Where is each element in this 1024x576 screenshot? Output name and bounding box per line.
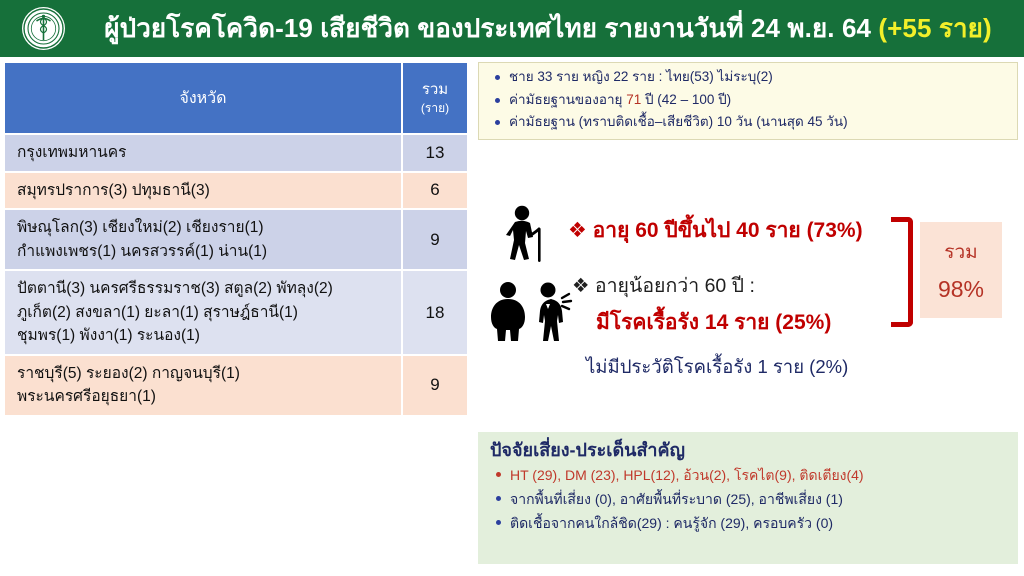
cell-province-names: สมุทรปราการ(3) ปทุมธานี(3) (5, 173, 401, 209)
obese-and-coughing-person-icon (486, 280, 582, 342)
column-header-province: จังหวัด (5, 63, 401, 133)
risk-factors-list: HT (29), DM (23), HPL(12), อ้วน(2), โรคไ… (490, 468, 1012, 530)
province-line: กำแพงเพชร(1) นครสวรรค์(1) น่าน(1) (17, 240, 401, 264)
cell-province-names: กรุงเทพมหานคร (5, 135, 401, 171)
demographics-panel: ชาย 33 ราย หญิง 22 ราย : ไทย(53) ไม่ระบุ… (478, 62, 1018, 140)
cell-total: 9 (403, 356, 467, 415)
demographics-item-highlight: 71 (626, 92, 641, 107)
no-chronic-disease-text: ไม่มีประวัติโรคเรื้อรัง 1 ราย (2%) (586, 353, 848, 382)
demographics-item: ค่ามัธยฐานของอายุ 71 ปี (42 – 100 ปี) (489, 93, 1011, 107)
cell-province-names: พิษณุโลก(3) เชียงใหม่(2) เชียงราย(1)กำแพ… (5, 210, 401, 269)
age-under-60-text: ❖ อายุน้อยกว่า 60 ปี : (572, 270, 755, 301)
table-row: สมุทรปราการ(3) ปทุมธานี(3)6 (5, 173, 467, 209)
logo-wrap (0, 0, 86, 57)
province-line: ปัตตานี(3) นครศรีธรรมราช(3) สตูล(2) พัทล… (17, 277, 401, 301)
grouping-bracket (891, 217, 913, 327)
combined-total-box: รวม 98% (920, 222, 1002, 318)
risk-factors-panel: ปัจจัยเสี่ยง-ประเด็นสำคัญ HT (29), DM (2… (478, 432, 1018, 564)
table-row: ปัตตานี(3) นครศรีธรรมราช(3) สตูล(2) พัทล… (5, 271, 467, 354)
combined-total-value: 98% (938, 276, 984, 303)
province-line: ภูเก็ต(2) สงขลา(1) ยะลา(1) สุราษฎ์ธานี(1… (17, 301, 401, 325)
infographic-page: ผู้ป่วยโรคโควิด-19 เสียชีวิต ของประเทศไท… (0, 0, 1024, 576)
table-row: ราชบุรี(5) ระยอง(2) กาญจนบุรี(1)พระนครศร… (5, 356, 467, 415)
demographics-item: ชาย 33 ราย หญิง 22 ราย : ไทย(53) ไม่ระบุ… (489, 70, 1011, 84)
combined-total-label: รวม (944, 237, 977, 267)
demographics-item-text: ชาย 33 ราย หญิง 22 ราย : ไทย(53) ไม่ระบุ… (509, 69, 773, 84)
age-breakdown-block: ❖ อายุ 60 ปีขึ้นไป 40 ราย (73%) ❖ อายุน้… (476, 186, 1024, 416)
cell-province-names: ปัตตานี(3) นครศรีธรรมราช(3) สตูล(2) พัทล… (5, 271, 401, 354)
demographics-item-text: ค่ามัธยฐานของอายุ (509, 92, 626, 107)
column-header-total-label: รวม (422, 81, 448, 98)
table-head: จังหวัด รวม (ราย) (5, 63, 467, 133)
age-over-60-text: ❖ อายุ 60 ปีขึ้นไป 40 ราย (73%) (568, 214, 863, 247)
table-row: กรุงเทพมหานคร13 (5, 135, 467, 171)
cell-total: 18 (403, 271, 467, 354)
cell-total: 13 (403, 135, 467, 171)
province-line: กรุงเทพมหานคร (17, 141, 401, 165)
risk-factor-item: จากพื้นที่เสี่ยง (0), อาศัยพื้นที่ระบาด … (490, 492, 1012, 506)
province-line: สมุทรปราการ(3) ปทุมธานี(3) (17, 179, 401, 203)
ministry-of-public-health-emblem-icon (22, 7, 65, 50)
province-line: ราชบุรี(5) ระยอง(2) กาญจนบุรี(1) (17, 362, 401, 386)
column-header-total-unit: (ราย) (405, 100, 465, 116)
risk-factors-title: ปัจจัยเสี่ยง-ประเด็นสำคัญ (490, 441, 1012, 461)
cell-total: 6 (403, 173, 467, 209)
column-header-total: รวม (ราย) (403, 63, 467, 133)
demographics-item: ค่ามัธยฐาน (ทราบติดเชื้อ–เสียชีวิต) 10 ว… (489, 115, 1011, 129)
risk-factor-item: ติดเชื้อจากคนใกล้ชิด(29) : คนรู้จัก (29)… (490, 516, 1012, 530)
cell-province-names: ราชบุรี(5) ระยอง(2) กาญจนบุรี(1)พระนครศร… (5, 356, 401, 415)
cell-total: 9 (403, 210, 467, 269)
chronic-disease-text: มีโรคเรื้อรัง 14 ราย (25%) (596, 306, 831, 339)
province-line: พิษณุโลก(3) เชียงใหม่(2) เชียงราย(1) (17, 216, 401, 240)
risk-factor-item: HT (29), DM (23), HPL(12), อ้วน(2), โรคไ… (490, 468, 1012, 482)
demographics-list: ชาย 33 ราย หญิง 22 ราย : ไทย(53) ไม่ระบุ… (489, 70, 1011, 129)
right-column: ชาย 33 ราย หญิง 22 ราย : ไทย(53) ไม่ระบุ… (476, 0, 1024, 576)
elderly-person-with-cane-icon (498, 204, 556, 266)
demographics-item-suffix: ปี (42 – 100 ปี) (641, 92, 731, 107)
table-body: กรุงเทพมหานคร13สมุทรปราการ(3) ปทุมธานี(3… (5, 135, 467, 415)
table-header-row: จังหวัด รวม (ราย) (5, 63, 467, 133)
table-row: พิษณุโลก(3) เชียงใหม่(2) เชียงราย(1)กำแพ… (5, 210, 467, 269)
province-table-wrap: จังหวัด รวม (ราย) กรุงเทพมหานคร13สมุทรปร… (3, 61, 469, 417)
province-line: ชุมพร(1) พังงา(1) ระนอง(1) (17, 324, 401, 348)
province-line: พระนครศรีอยุธยา(1) (17, 385, 401, 409)
demographics-item-text: ค่ามัธยฐาน (ทราบติดเชื้อ–เสียชีวิต) 10 ว… (509, 114, 848, 129)
province-death-table: จังหวัด รวม (ราย) กรุงเทพมหานคร13สมุทรปร… (3, 61, 469, 417)
